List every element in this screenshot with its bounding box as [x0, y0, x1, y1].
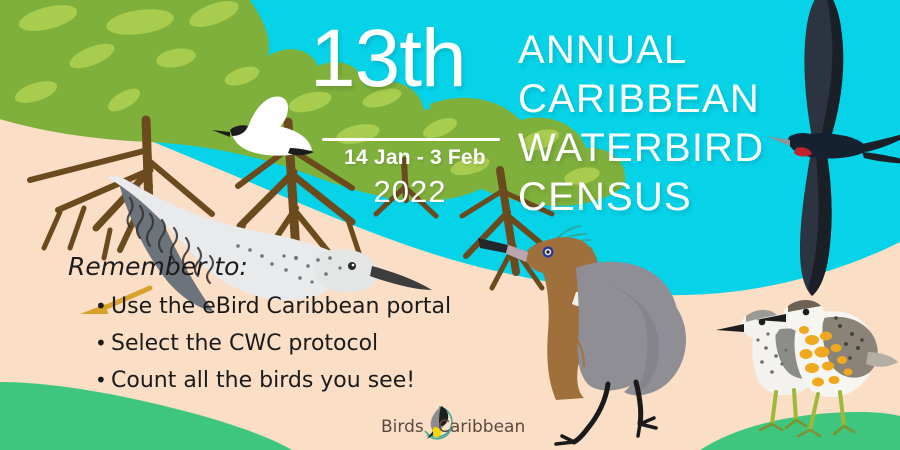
yellowlegs-eye — [348, 262, 356, 270]
ordinal-number: 13th — [310, 18, 466, 100]
title-line-3: Waterbird — [518, 124, 764, 173]
title-divider-rule — [322, 138, 500, 141]
sandpiper-rufous-eye — [803, 309, 810, 316]
main-title: Annual Caribbean Waterbird Census — [518, 26, 764, 222]
yellowlegs-eye-glint — [352, 264, 355, 267]
instructions-list: •Use the eBird Caribbean portal •Select … — [95, 288, 451, 399]
list-item-label: Select the CWC protocol — [111, 331, 378, 356]
list-item-label: Use the eBird Caribbean portal — [111, 294, 451, 319]
instructions-heading: Remember to: — [68, 252, 248, 281]
bullet-glyph: • — [95, 362, 111, 399]
logo-word-birds: Birds — [381, 417, 424, 437]
list-item-label: Count all the birds you see! — [111, 368, 415, 393]
bullet-glyph: • — [95, 288, 111, 325]
egret-pupil — [546, 250, 549, 253]
logo-word-caribbean: Caribbean — [438, 417, 525, 437]
event-year: 2022 — [322, 174, 498, 210]
title-line-4: Census — [518, 173, 764, 222]
list-item: •Use the eBird Caribbean portal — [95, 288, 451, 325]
bullet-glyph: • — [95, 325, 111, 362]
event-date-range: 14 Jan - 3 Feb — [322, 146, 508, 170]
list-item: •Select the CWC protocol — [95, 325, 451, 362]
birdscaribbean-logo: Birds Caribbean — [381, 401, 503, 445]
list-item: •Count all the birds you see! — [95, 362, 451, 399]
title-line-2: Caribbean — [518, 75, 764, 124]
title-line-1: Annual — [518, 26, 764, 75]
waterbird-census-poster: 13th 14 Jan - 3 Feb 2022 Annual Caribbea… — [0, 0, 900, 450]
